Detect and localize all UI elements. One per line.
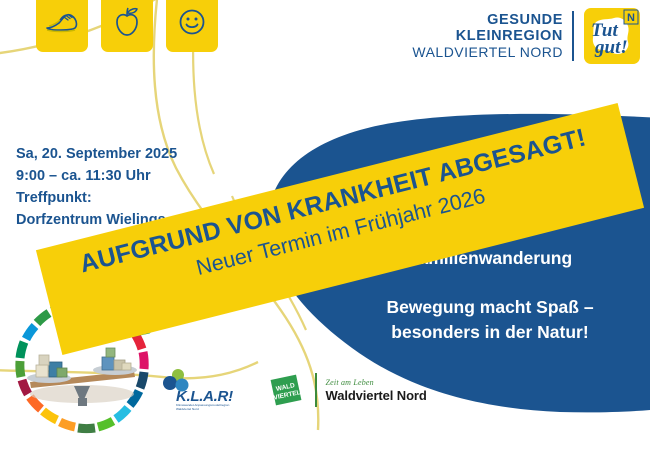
header-divider <box>572 11 574 61</box>
svg-text:gut!: gut! <box>594 37 628 58</box>
icon-card-apple <box>101 0 153 52</box>
event-meeting-label: Treffpunkt: <box>16 187 177 209</box>
klar-logo: K.L.A.R! Klimawandel-Anpassungsmodellreg… <box>162 366 244 414</box>
running-shoe-icon <box>44 9 80 35</box>
event-slogan-line2: besonders in der Natur! <box>345 320 635 345</box>
header-line-kleinregion: KLEINREGION <box>412 28 563 45</box>
waldviertel-logo: WALD VIERTEL Zeit am Leben Waldviertel N… <box>266 370 427 410</box>
header-wordmark: GESUNDE KLEINREGION WALDVIERTEL NORD <box>412 12 572 61</box>
waldviertel-diamond-icon: WALD VIERTEL <box>266 370 306 410</box>
event-time: 9:00 – ca. 11:30 Uhr <box>16 165 177 187</box>
partner-logos-row: K.L.A.R! Klimawandel-Anpassungsmodellreg… <box>162 366 427 414</box>
klar-logo-subtitle: Klimawandel-Anpassungsmodellregion Waldv… <box>176 403 244 411</box>
waldviertel-text: Zeit am Leben Waldviertel Nord <box>326 378 427 403</box>
poster-canvas: GESUNDE KLEINREGION WALDVIERTEL NORD Tut… <box>0 0 650 461</box>
icon-card-running-shoe <box>36 0 88 52</box>
waldviertel-name: Waldviertel Nord <box>326 388 427 403</box>
tut-gut-logo: Tut gut! N <box>584 8 640 64</box>
waldviertel-divider <box>315 373 317 407</box>
icon-card-smiley <box>166 0 218 52</box>
smiley-face-icon <box>177 7 207 37</box>
svg-text:N: N <box>627 12 635 24</box>
event-date: Sa, 20. September 2025 <box>16 143 177 165</box>
waldviertel-script-line: Zeit am Leben <box>326 378 427 387</box>
event-slogan: Bewegung macht Spaß – besonders in der N… <box>345 295 635 345</box>
header-line-waldviertel-nord: WALDVIERTEL NORD <box>412 45 563 61</box>
header-logo-block: GESUNDE KLEINREGION WALDVIERTEL NORD Tut… <box>412 8 640 64</box>
event-slogan-line1: Bewegung macht Spaß – <box>345 295 635 320</box>
event-details-block: Sa, 20. September 2025 9:00 – ca. 11:30 … <box>16 143 177 231</box>
apple-icon <box>113 6 141 38</box>
header-line-gesunde: GESUNDE <box>412 12 563 29</box>
health-theme-icon-cards <box>36 0 218 52</box>
